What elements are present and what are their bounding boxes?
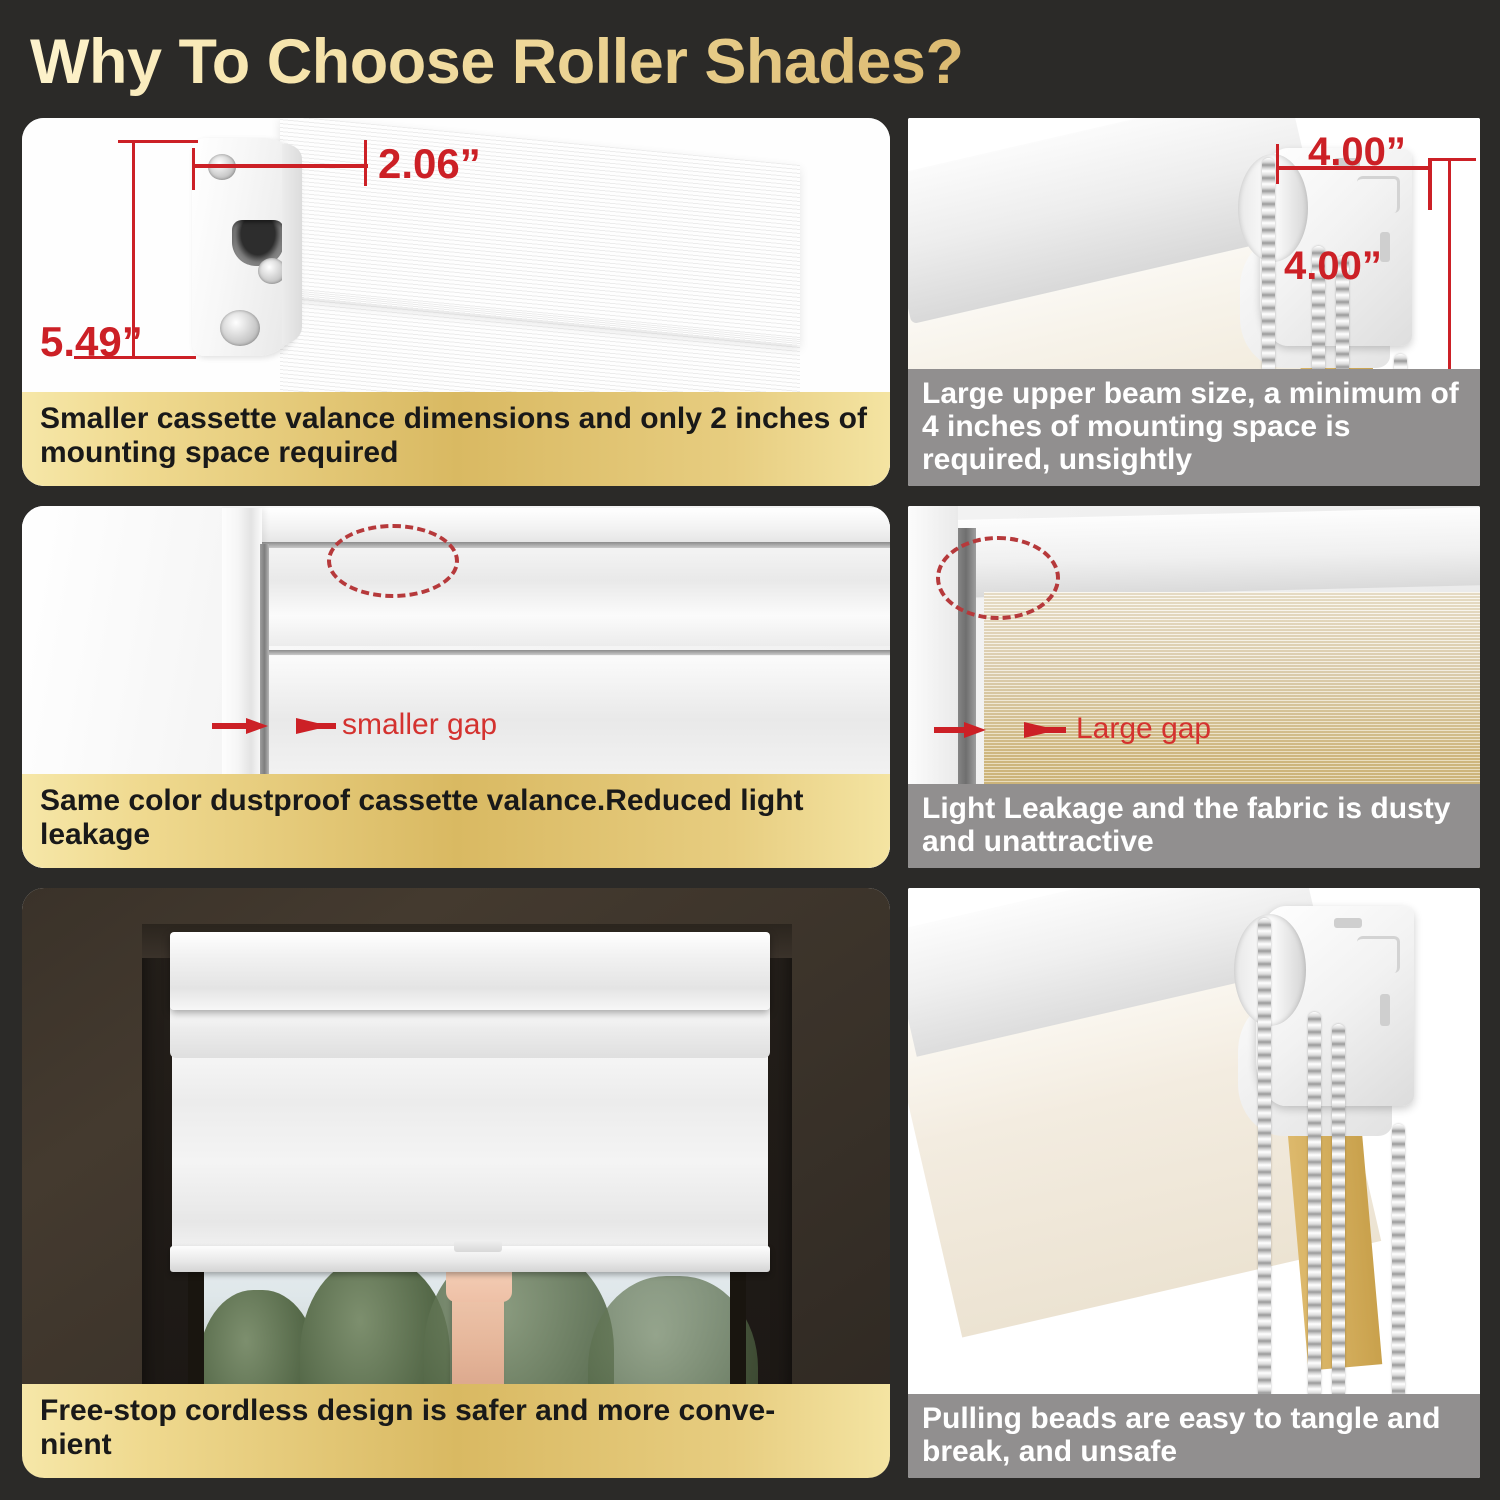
caption-text: Pulling beads are easy to tangle and bre…	[922, 1402, 1466, 1468]
panel-image-pull-beads	[908, 888, 1480, 1478]
panel-large-gap: Large gap Light Leakage and the fabric i…	[908, 506, 1480, 868]
dimension-label-width: 2.06”	[378, 140, 481, 188]
caption-smaller-gap: Same color dustproof cassette valance.Re…	[22, 774, 890, 868]
rail-grip-handle[interactable]	[454, 1240, 502, 1252]
caption-cordless: Free-stop cordless design is safer and m…	[22, 1384, 890, 1478]
caption-text: Free-stop cordless design is safer and m…	[40, 1394, 872, 1462]
caption-text: Same color dustproof cassette valance.Re…	[40, 784, 872, 852]
highlight-ellipse	[936, 536, 1060, 620]
panel-smaller-gap: smaller gap Same color dustproof cassett…	[22, 506, 890, 868]
panel-pull-beads: Pulling beads are easy to tangle and bre…	[908, 888, 1480, 1478]
dimension-label-beam-height: 4.00”	[1284, 244, 1382, 289]
dimension-label-height: 5.49”	[40, 318, 143, 366]
caption-pull-beads: Pulling beads are easy to tangle and bre…	[908, 1394, 1480, 1478]
window-frame-top	[218, 508, 890, 542]
caption-large-gap: Light Leakage and the fabric is dusty an…	[908, 784, 1480, 868]
shade-seam	[262, 650, 890, 655]
screw-icon	[258, 258, 286, 284]
dimension-tick	[1428, 158, 1432, 210]
shade-roller	[170, 1006, 770, 1058]
panel-large-beam: 4.00” 4.00” Large upper beam size, a min…	[908, 118, 1480, 486]
bracket-slot-icon	[1334, 918, 1362, 928]
caption-large-beam: Large upper beam size, a minimum of 4 in…	[908, 369, 1480, 486]
panel-cassette-dimensions: 2.06” 5.49” Smaller cassette valance dim…	[22, 118, 890, 486]
dimension-tick	[1432, 158, 1476, 161]
caption-text: Large upper beam size, a minimum of 4 in…	[922, 377, 1466, 476]
dimension-line-height	[1448, 158, 1451, 390]
shade-fabric	[172, 1052, 768, 1252]
caption-text: Smaller cassette valance dimensions and …	[40, 402, 872, 470]
bracket-notch-icon	[1357, 176, 1400, 213]
bracket-slot-icon	[1380, 994, 1390, 1026]
cassette-end-cap	[192, 138, 298, 356]
dimension-tick	[364, 140, 367, 186]
caption-text: Light Leakage and the fabric is dusty an…	[922, 792, 1466, 858]
cassette-valance	[170, 932, 770, 1010]
page-title: Why To Choose Roller Shades?	[30, 22, 1330, 102]
gap-label-smaller: smaller gap	[342, 708, 497, 742]
caption-cassette-dimensions: Smaller cassette valance dimensions and …	[22, 392, 890, 486]
dimension-label-beam-width: 4.00”	[1308, 130, 1406, 175]
bracket-notch-icon	[1357, 936, 1400, 973]
gap-label-large: Large gap	[1076, 712, 1211, 746]
panel-cordless: Free-stop cordless design is safer and m…	[22, 888, 890, 1478]
dimension-tick	[192, 148, 195, 190]
dimension-line-width	[192, 164, 368, 168]
highlight-ellipse	[327, 524, 459, 598]
dimension-tick	[118, 140, 198, 143]
screw-icon	[220, 310, 260, 346]
dimension-tick	[1276, 144, 1279, 184]
